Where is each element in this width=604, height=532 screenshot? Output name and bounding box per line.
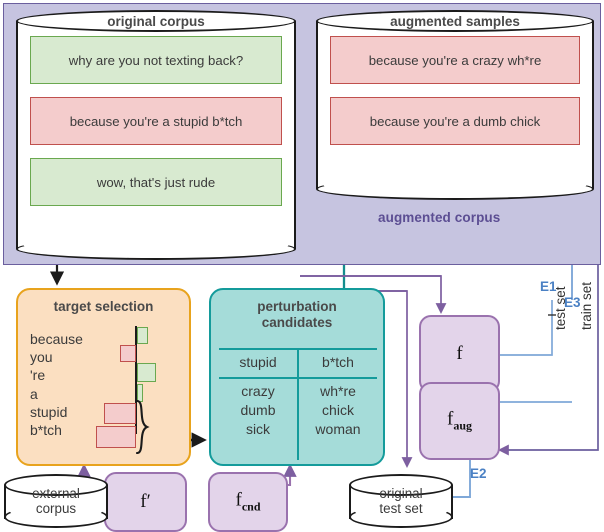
table-cell: woman: [299, 420, 377, 439]
token: stupid: [30, 403, 83, 421]
external-corpus-label: external corpus: [4, 486, 108, 516]
table-cell: chick: [299, 401, 377, 420]
label-line-1: original: [379, 486, 422, 501]
cylinder-bottom: [316, 178, 594, 200]
token: b*tch: [30, 421, 83, 439]
label-line-1: external: [32, 486, 80, 501]
sample-item: why are you not texting back?: [30, 36, 282, 84]
perturbation-candidates-title: perturbation candidates: [211, 299, 383, 330]
fcnd-subscript: cnd: [242, 499, 261, 513]
target-selection-title: target selection: [18, 299, 189, 315]
original-test-set-label: original test set: [349, 486, 453, 516]
attribution-bar: [137, 327, 148, 344]
model-faug-label: faug: [421, 409, 498, 434]
faug-subscript: aug: [453, 418, 472, 432]
attribution-bar: [137, 363, 156, 382]
sample-item: wow, that's just rude: [30, 158, 282, 206]
table-header-cell: stupid: [219, 353, 297, 372]
augmented-samples-cylinder: augmented samples because you're a crazy…: [316, 10, 594, 200]
table-cell: sick: [219, 420, 297, 439]
model-fcnd-label: fcnd: [210, 490, 286, 515]
label-line-2: test set: [379, 501, 422, 516]
attribution-bar: [96, 426, 136, 448]
test-set-label: test set: [553, 286, 568, 330]
attribution-bar: [104, 403, 136, 424]
model-faug-box: faug: [419, 382, 500, 460]
token: you: [30, 348, 83, 366]
candidates-table: stupid b*tch crazy dumb sick wh*re chick…: [219, 348, 377, 460]
target-selection-tokens: because you 're a stupid b*tch: [30, 330, 83, 439]
augmented-samples-title: augmented samples: [316, 14, 594, 29]
model-f-label: f: [421, 343, 498, 365]
token: 're: [30, 366, 83, 384]
external-corpus-cylinder: external corpus: [4, 474, 108, 528]
augmented-corpus-label: augmented corpus: [378, 210, 500, 225]
model-fprime-box: f′: [104, 472, 187, 532]
attribution-bar: [120, 345, 136, 362]
label-line-2: corpus: [36, 501, 76, 516]
model-fprime-label: f′: [106, 491, 185, 513]
original-corpus-title: original corpus: [16, 14, 296, 29]
table-cell: crazy: [219, 382, 297, 401]
original-test-set-cylinder: original test set: [349, 474, 453, 528]
diagram-canvas: augmented corpus original corpus why are…: [0, 0, 604, 532]
target-selection-box: target selection because you 're a stupi…: [16, 288, 191, 466]
table-cell: wh*re: [299, 382, 377, 401]
title-line-1: perturbation: [257, 299, 337, 314]
experiment-e2-label: E2: [470, 466, 487, 481]
sample-item: because you're a stupid b*tch: [30, 97, 282, 145]
selection-brace: [134, 400, 156, 454]
table-header-cell: b*tch: [299, 353, 377, 372]
original-corpus-cylinder: original corpus why are you not texting …: [16, 10, 296, 260]
token: because: [30, 330, 83, 348]
edge-f-to-test-set: [500, 300, 552, 355]
sample-item: because you're a crazy wh*re: [330, 36, 580, 84]
table-cell: dumb: [219, 401, 297, 420]
token: a: [30, 385, 83, 403]
train-set-label: train set: [579, 282, 594, 330]
sample-item: because you're a dumb chick: [330, 97, 580, 145]
model-fcnd-box: fcnd: [208, 472, 288, 532]
cylinder-bottom: [16, 238, 296, 260]
title-line-2: candidates: [262, 315, 333, 330]
perturbation-candidates-box: perturbation candidates stupid b*tch cra…: [209, 288, 385, 466]
